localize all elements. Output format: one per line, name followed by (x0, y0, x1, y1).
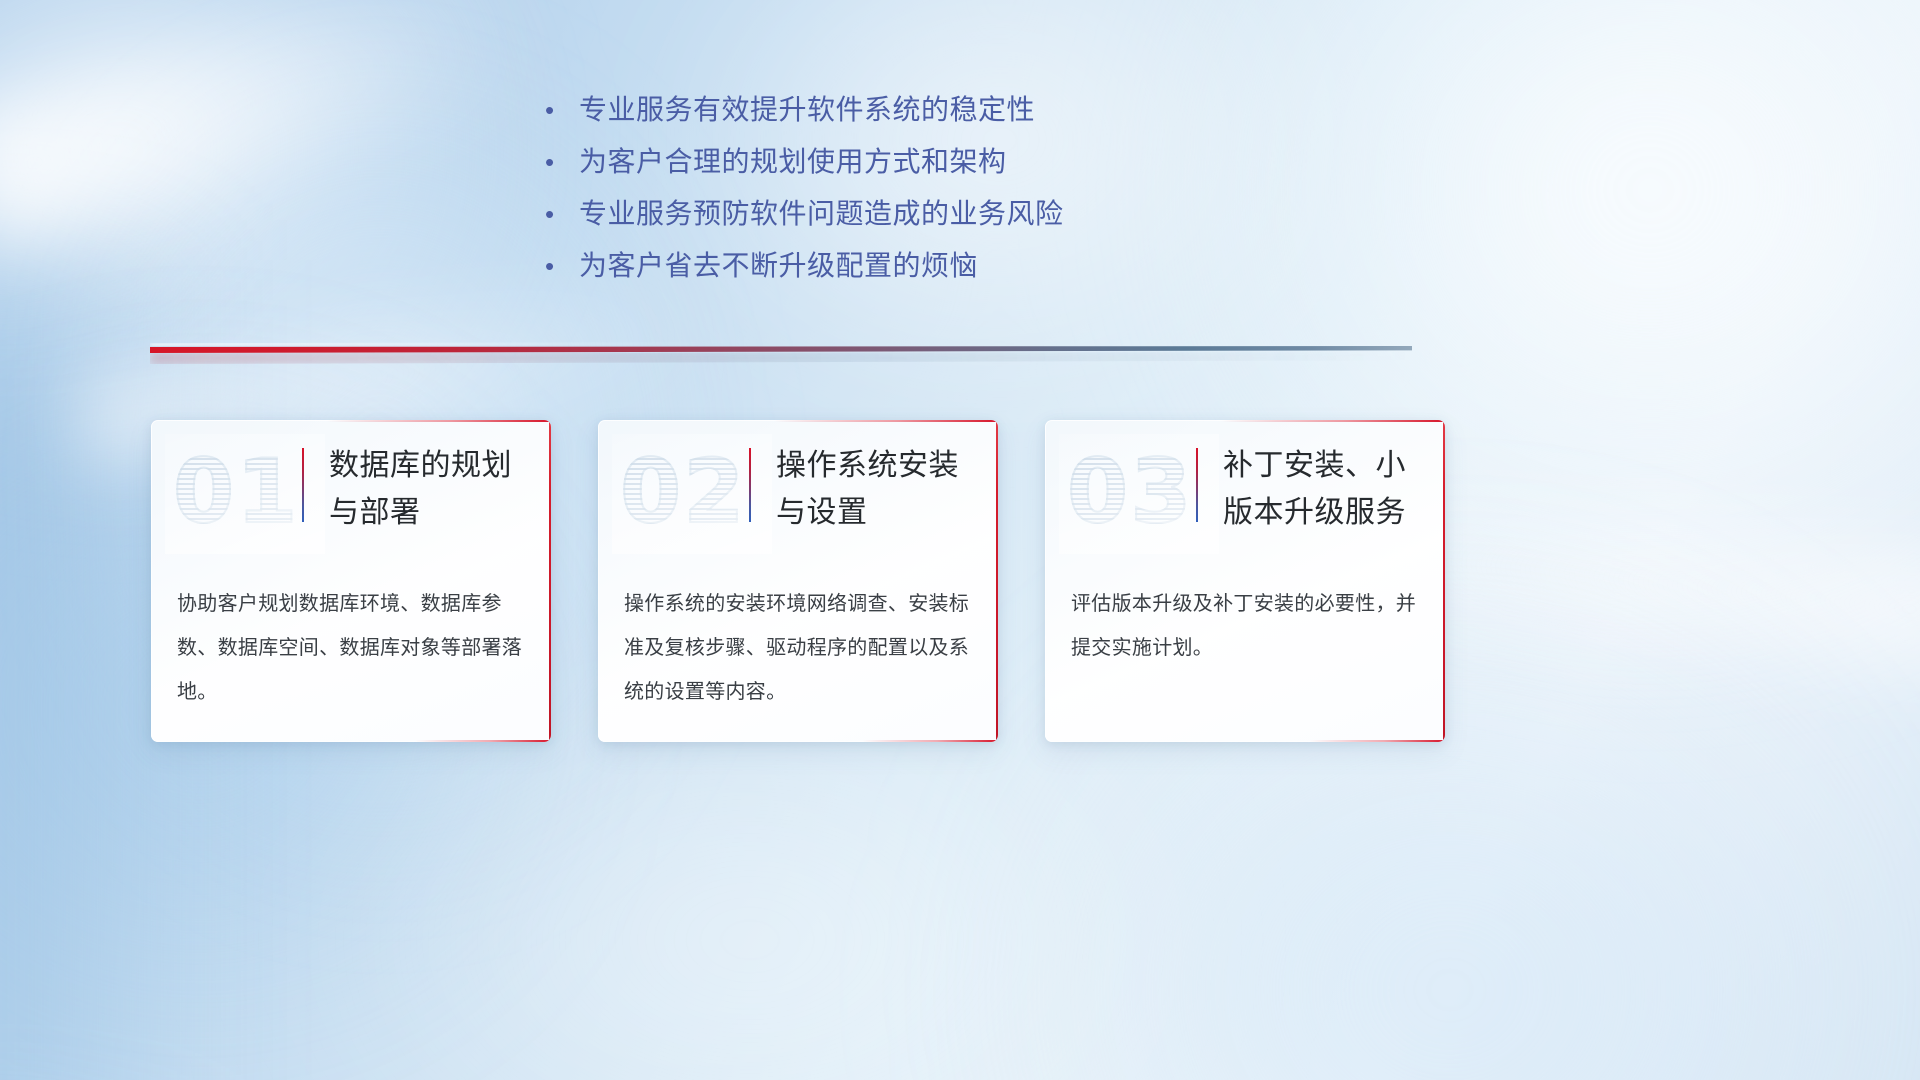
card-body-text: 评估版本升级及补丁安装的必要性，并提交实施计划。 (1071, 582, 1423, 670)
card-header: 01 数据库的规划与部署 (151, 420, 551, 572)
feature-bullet-list: • 专业服务有效提升软件系统的稳定性 • 为客户合理的规划使用方式和架构 • 专… (545, 88, 1385, 296)
card-accent-edge-bottom (415, 740, 551, 742)
bullet-dot-icon: • (545, 192, 579, 236)
service-card-list: 01 数据库的规划与部署 协助客户规划数据库环境、数据库参数、数据库空间、数据库… (151, 420, 1445, 742)
card-divider-bar (302, 448, 304, 522)
bullet-text: 为客户合理的规划使用方式和架构 (579, 140, 1007, 184)
card-number: 01 (173, 438, 299, 546)
bullet-dot-icon: • (545, 88, 579, 132)
list-item: • 为客户合理的规划使用方式和架构 (545, 140, 1385, 192)
divider-bar (150, 346, 1412, 353)
divider-highlight (150, 342, 731, 346)
card-divider-bar (1196, 448, 1198, 522)
bullet-text: 为客户省去不断升级配置的烦恼 (579, 244, 978, 288)
list-item: • 为客户省去不断升级配置的烦恼 (545, 244, 1385, 296)
service-card[interactable]: 01 数据库的规划与部署 协助客户规划数据库环境、数据库参数、数据库空间、数据库… (151, 420, 551, 742)
card-header: 03 补丁安装、小版本升级服务 (1045, 420, 1445, 572)
section-divider (150, 340, 1412, 366)
bullet-dot-icon: • (545, 140, 579, 184)
list-item: • 专业服务有效提升软件系统的稳定性 (545, 88, 1385, 140)
card-accent-edge-bottom (1309, 740, 1445, 742)
service-card[interactable]: 03 补丁安装、小版本升级服务 评估版本升级及补丁安装的必要性，并提交实施计划。 (1045, 420, 1445, 742)
bullet-dot-icon: • (545, 244, 579, 288)
card-title: 操作系统安装与设置 (776, 442, 982, 536)
divider-shadow (150, 352, 1412, 364)
card-divider-bar (749, 448, 751, 522)
bullet-text: 专业服务预防软件问题造成的业务风险 (579, 192, 1064, 236)
card-body-text: 操作系统的安装环境网络调查、安装标准及复核步骤、驱动程序的配置以及系统的设置等内… (624, 582, 976, 714)
bullet-text: 专业服务有效提升软件系统的稳定性 (579, 88, 1035, 132)
card-title: 数据库的规划与部署 (329, 442, 535, 536)
card-title: 补丁安装、小版本升级服务 (1223, 442, 1429, 536)
card-accent-edge-bottom (862, 740, 998, 742)
service-card[interactable]: 02 操作系统安装与设置 操作系统的安装环境网络调查、安装标准及复核步骤、驱动程… (598, 420, 998, 742)
card-number: 02 (620, 438, 746, 546)
card-body-text: 协助客户规划数据库环境、数据库参数、数据库空间、数据库对象等部署落地。 (177, 582, 529, 714)
card-header: 02 操作系统安装与设置 (598, 420, 998, 572)
card-number: 03 (1067, 438, 1193, 546)
list-item: • 专业服务预防软件问题造成的业务风险 (545, 192, 1385, 244)
